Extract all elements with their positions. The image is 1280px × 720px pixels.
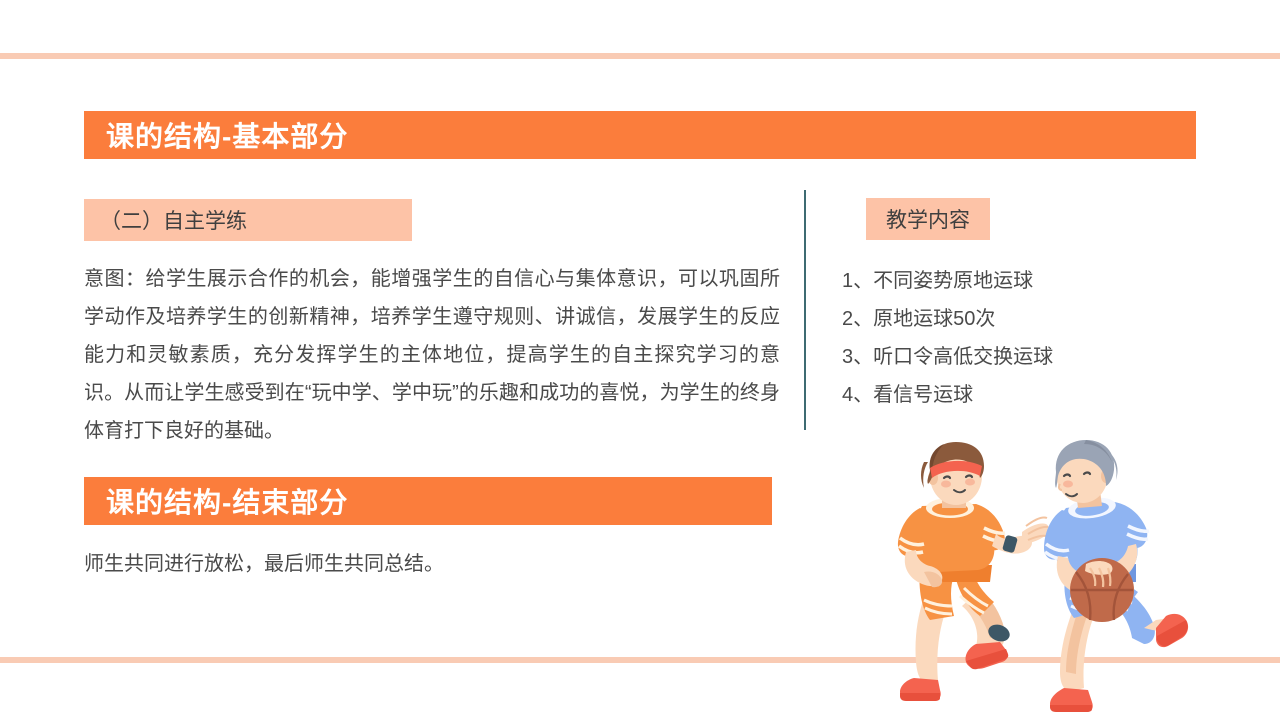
column-divider	[804, 190, 806, 430]
player-orange-defender	[898, 442, 1049, 701]
subsection-label-self-practice: （二）自主学练	[84, 199, 412, 241]
subsection-label-text: （二）自主学练	[84, 205, 247, 235]
section-heading-end-part-text: 课的结构-结束部分	[84, 481, 348, 521]
player-blue-with-ball	[1044, 440, 1188, 712]
closing-paragraph: 师生共同进行放松，最后师生共同总结。	[84, 547, 784, 581]
section-heading-basic-part: 课的结构-基本部分	[84, 111, 1196, 159]
slide-canvas: 课的结构-基本部分 （二）自主学练 意图：给学生展示合作的机会，能增强学生的自信…	[0, 0, 1280, 720]
section-heading-end-part: 课的结构-结束部分	[84, 477, 772, 525]
teaching-content-label: 教学内容	[866, 198, 990, 240]
top-decorative-rule	[0, 53, 1280, 59]
intent-paragraph: 意图：给学生展示合作的机会，能增强学生的自信心与集体意识，可以巩固所学动作及培养…	[84, 260, 780, 450]
section-heading-basic-part-text: 课的结构-基本部分	[84, 115, 348, 155]
two-basketball-players-illustration	[880, 440, 1200, 720]
list-item: 1、不同姿势原地运球	[842, 262, 1172, 300]
teaching-content-list: 1、不同姿势原地运球 2、原地运球50次 3、听口令高低交换运球 4、看信号运球	[842, 262, 1172, 414]
list-item: 3、听口令高低交换运球	[842, 338, 1172, 376]
list-item: 2、原地运球50次	[842, 300, 1172, 338]
list-item: 4、看信号运球	[842, 376, 1172, 414]
teaching-content-label-text: 教学内容	[886, 204, 970, 234]
